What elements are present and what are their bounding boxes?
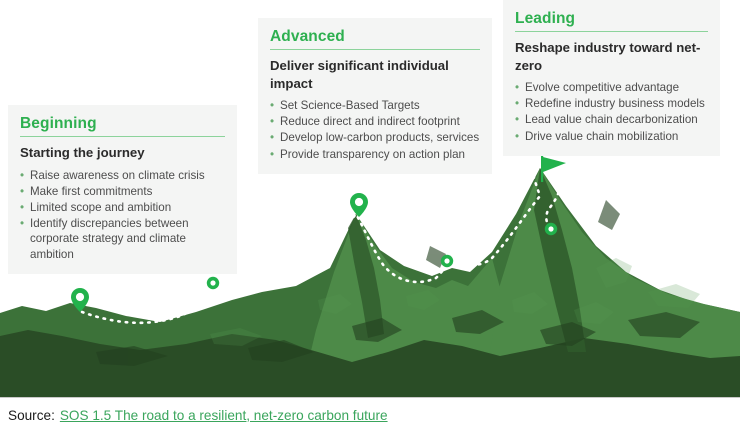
panel-leading-subtitle: Reshape industry toward net-zero [515, 39, 708, 74]
list-item: Limited scope and ambition [20, 200, 225, 215]
list-item: Drive value chain mobilization [515, 129, 708, 144]
panel-leading-bullets: Evolve competitive advantage Redefine in… [515, 80, 708, 144]
marker-advanced[interactable] [350, 193, 368, 217]
panel-leading-rule [515, 31, 708, 32]
source-footer: Source: SOS 1.5 The road to a resilient,… [0, 397, 740, 433]
marker-stage-two[interactable] [207, 277, 219, 289]
panel-advanced: Advanced Deliver significant individual … [258, 18, 492, 174]
panel-advanced-subtitle: Deliver significant individual impact [270, 57, 480, 92]
source-label: Source: [8, 407, 55, 425]
list-item: Develop low-carbon products, services [270, 130, 480, 145]
list-item: Identify discrepancies between corporate… [20, 216, 225, 262]
list-item: Provide transparency on action plan [270, 147, 480, 162]
panel-beginning-subtitle: Starting the journey [20, 144, 225, 162]
list-item: Raise awareness on climate crisis [20, 168, 225, 183]
infographic-root: Beginning Starting the journey Raise awa… [0, 0, 740, 433]
list-item: Evolve competitive advantage [515, 80, 708, 95]
panel-advanced-bullets: Set Science-Based Targets Reduce direct … [270, 98, 480, 162]
list-item: Make first commitments [20, 184, 225, 199]
source-link[interactable]: SOS 1.5 The road to a resilient, net-zer… [60, 407, 388, 425]
marker-stage-four[interactable] [441, 255, 453, 267]
marker-leading[interactable] [545, 223, 557, 235]
list-item: Set Science-Based Targets [270, 98, 480, 113]
list-item: Redefine industry business models [515, 96, 708, 111]
panel-beginning: Beginning Starting the journey Raise awa… [8, 105, 237, 274]
list-item: Reduce direct and indirect footprint [270, 114, 480, 129]
panel-advanced-heading: Advanced [270, 27, 480, 46]
panel-beginning-bullets: Raise awareness on climate crisis Make f… [20, 168, 225, 262]
panel-beginning-rule [20, 136, 225, 137]
panel-leading: Leading Reshape industry toward net-zero… [503, 0, 720, 156]
list-item: Lead value chain decarbonization [515, 112, 708, 127]
panel-beginning-heading: Beginning [20, 114, 225, 133]
panel-leading-heading: Leading [515, 9, 708, 28]
panel-advanced-rule [270, 49, 480, 50]
